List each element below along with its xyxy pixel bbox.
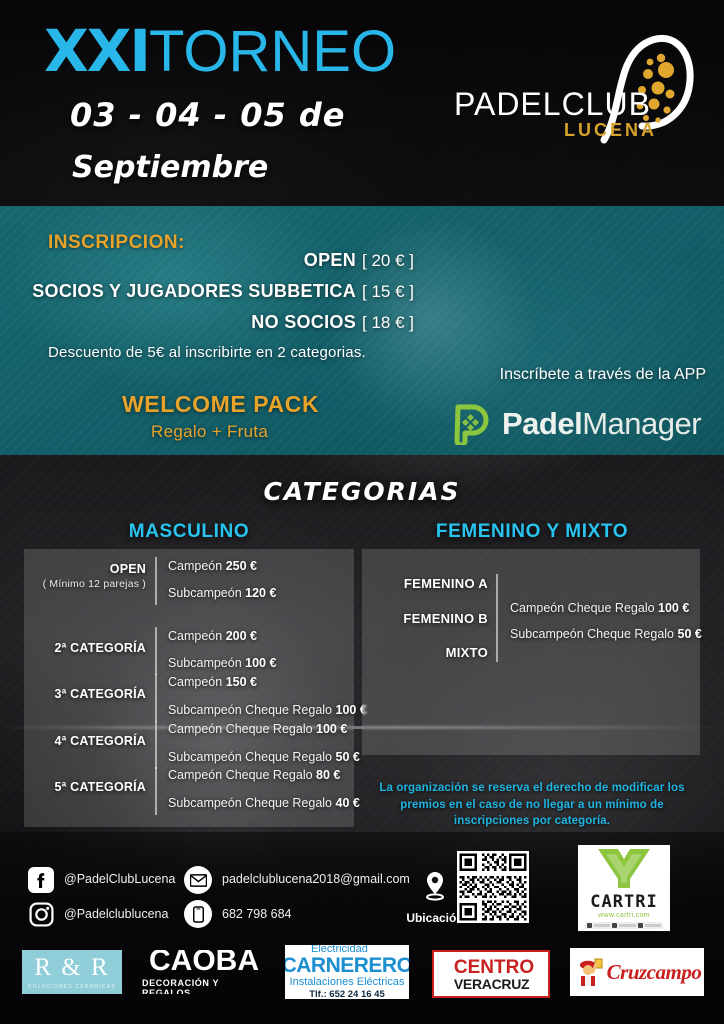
price-name: NO SOCIOS [251,312,356,332]
price-name: OPEN [304,250,356,270]
category-label: 5ª CATEGORÍA [54,780,146,794]
prize-line: Subcampeón 120 € [168,586,276,600]
prize-label: Campeón [168,559,222,573]
sponsor-ryr[interactable]: R & R SOLUCIONES CERAMICAS [22,950,122,994]
prize-value: 100 € [316,722,347,736]
phone-number[interactable]: 682 798 684 [222,907,292,921]
prize-value: 40 € [336,796,360,810]
prize-label: Subcampeón Cheque Regalo [510,627,674,641]
prize-value: 150 € [226,675,257,689]
price-amount: [ 20 € ] [362,251,414,270]
row-separator [155,767,157,815]
price-row: NO SOCIOS[ 18 € ] [251,312,414,333]
category-note: ( Mínimo 12 parejas ) [24,578,146,590]
row-separator [496,574,498,662]
sponsor-cartri-name: CARTRI [590,892,657,912]
prize-value: 80 € [316,768,340,782]
categories-section-title: CATEGORIAS [0,477,724,506]
category-name: 4ª CATEGORÍA [24,734,146,748]
category-name: 3ª CATEGORÍA [24,687,146,701]
prize-value: 250 € [226,559,257,573]
sponsor-ryr-tagline: SOLUCIONES CERAMICAS [28,984,116,990]
cartri-logo-icon [592,845,656,891]
tournament-dates: 03 - 04 - 05 de [70,96,345,134]
facebook-icon[interactable] [28,867,54,893]
mixto-label: MIXTO [372,645,488,660]
facebook-handle[interactable]: @PadelClubLucena [64,872,175,886]
sponsor-centro-veracruz[interactable]: CENTRO VERACRUZ [432,950,550,998]
category-label: 4ª CATEGORÍA [54,734,146,748]
row-separator [155,627,157,675]
sponsor-cartri[interactable]: CARTRI www.cartri.com [578,845,670,931]
price-name: SOCIOS Y JUGADORES SUBBETICA [32,281,356,301]
prize-line: Subcampeón Cheque Regalo 100 € [168,703,367,717]
tournament-month: Septiembre [72,150,268,185]
prize-line: Campeón Cheque Regalo 100 € [510,601,689,615]
sponsor-cruzcampo[interactable]: Cruzcampo [570,948,704,996]
prize-line: Campeón Cheque Regalo 100 € [168,722,347,736]
femenino-mixto-heading: FEMENINO Y MIXTO [362,521,702,543]
category-label: 3ª CATEGORÍA [54,687,146,701]
cruzcampo-mascot-icon [573,955,607,989]
prize-value: 50 € [678,627,702,641]
prize-label: Subcampeón Cheque Regalo [168,703,332,717]
app-prompt-text: Inscríbete a través de la APP [500,366,706,384]
tournament-edition-number: XXI [44,17,149,85]
sponsor-cartri-url: www.cartri.com [598,912,650,919]
email-address[interactable]: padelclublucena2018@gmail.com [222,872,410,886]
category-name: 5ª CATEGORÍA [24,780,146,794]
row-separator [155,674,157,722]
price-amount: [ 15 € ] [362,282,414,301]
welcome-pack-title: WELCOME PACK [122,391,319,418]
sponsor-carnerero-name: CARNERERO [285,955,409,976]
email-icon[interactable] [184,866,212,894]
club-logo-lucena: LUCENA [564,120,657,141]
prize-label: Campeón [168,629,222,643]
prize-disclaimer: La organización se reserva el derecho de… [372,780,692,830]
prize-label: Campeón Cheque Regalo [168,768,313,782]
prize-value: 100 € [658,601,689,615]
prize-value: 120 € [245,586,276,600]
price-row: OPEN[ 20 € ] [304,250,414,271]
sponsor-caoba-name: CAOBA [149,950,259,976]
phone-icon[interactable] [184,900,212,928]
padel-club-lucena-logo: PADELCLUB LUCENA [452,36,700,148]
tournament-title: XXITORNEO [44,22,396,81]
prize-line: Campeón 200 € [168,629,257,643]
masculino-table: OPEN ( Mínimo 12 parejas ) Campeón 250 €… [24,549,354,827]
prize-label: Campeón [168,675,222,689]
prize-value: 200 € [226,629,257,643]
location-pin-icon[interactable] [422,869,448,903]
qr-code[interactable] [457,851,529,923]
price-amount: [ 18 € ] [362,313,414,332]
club-logo-club: CLUB [562,86,651,122]
prize-line: Subcampeón Cheque Regalo 40 € [168,796,360,810]
discount-note: Descuento de 5€ al inscribirte en 2 cate… [48,344,366,361]
instagram-icon[interactable] [28,901,54,927]
sponsor-ryr-name: R & R [34,954,109,982]
sponsor-veracruz-line2: VERACRUZ [454,977,529,991]
sponsor-veracruz-line1: CENTRO [454,958,534,977]
sponsor-carnerero-phone: Tlf.: 652 24 16 45 [309,989,385,999]
padelmanager-wordmark: PadelManager [502,406,701,442]
category-name: OPEN ( Mínimo 12 parejas ) [24,562,146,590]
padelmanager-word-padel: Padel [502,406,582,441]
sponsor-caoba-tagline: DECORACIÓN Y REGALOS [142,978,266,994]
prize-label: Campeón Cheque Regalo [168,722,313,736]
prize-line: Subcampeón 100 € [168,656,276,670]
prize-line: Campeón 150 € [168,675,257,689]
category-label: OPEN [110,562,146,576]
prize-label: Campeón Cheque Regalo [510,601,655,615]
prize-line: Campeón 250 € [168,559,257,573]
tournament-poster: XXITORNEO 03 - 04 - 05 de Septiembre PAD… [0,0,724,1024]
prize-value: 100 € [245,656,276,670]
inscription-band: INSCRIPCION: OPEN[ 20 € ] SOCIOS Y JUGAD… [0,206,724,455]
prize-line: Subcampeón Cheque Regalo 50 € [168,750,360,764]
category-name: 2ª CATEGORÍA [24,641,146,655]
poster-header: XXITORNEO 03 - 04 - 05 de Septiembre PAD… [0,0,724,206]
padelmanager-logo[interactable]: PadelManager [452,402,701,446]
femenino-a-label: FEMENINO A [372,576,488,591]
instagram-handle[interactable]: @Padelclublucena [64,907,168,921]
tournament-title-word: TORNEO [149,19,396,84]
club-logo-padel: PADEL [454,86,562,122]
prize-value: 50 € [336,750,360,764]
femenino-mixto-table: FEMENINO A FEMENINO B MIXTO Campeón Cheq… [362,549,700,755]
row-separator [155,557,157,605]
prize-line: Subcampeón Cheque Regalo 50 € [510,627,702,641]
cartri-social-bar [585,922,663,929]
sponsor-caoba[interactable]: CAOBA DECORACIÓN Y REGALOS [142,950,266,994]
category-label: 2ª CATEGORÍA [54,641,146,655]
welcome-pack-subtitle: Regalo + Fruta [151,422,268,442]
padelmanager-icon [452,403,492,445]
prize-label: Subcampeón [168,586,242,600]
prize-label: Subcampeón Cheque Regalo [168,750,332,764]
club-logo-text: PADELCLUB [454,86,651,123]
sponsor-cruzcampo-name: Cruzcampo [607,960,702,985]
prize-label: Subcampeón [168,656,242,670]
prize-line: Campeón Cheque Regalo 80 € [168,768,340,782]
row-separator [155,721,157,769]
femenino-b-label: FEMENINO B [372,611,488,626]
sponsor-carnerero-line3: Instalaciones Eléctricas [290,976,405,989]
prize-label: Subcampeón Cheque Regalo [168,796,332,810]
padelmanager-word-manager: Manager [582,406,701,441]
masculino-heading: MASCULINO [24,521,354,543]
price-row: SOCIOS Y JUGADORES SUBBETICA[ 15 € ] [32,281,414,302]
inscription-label: INSCRIPCION: [48,232,185,254]
sponsor-carnerero[interactable]: Electricidad CARNERERO Instalaciones Elé… [285,945,409,999]
